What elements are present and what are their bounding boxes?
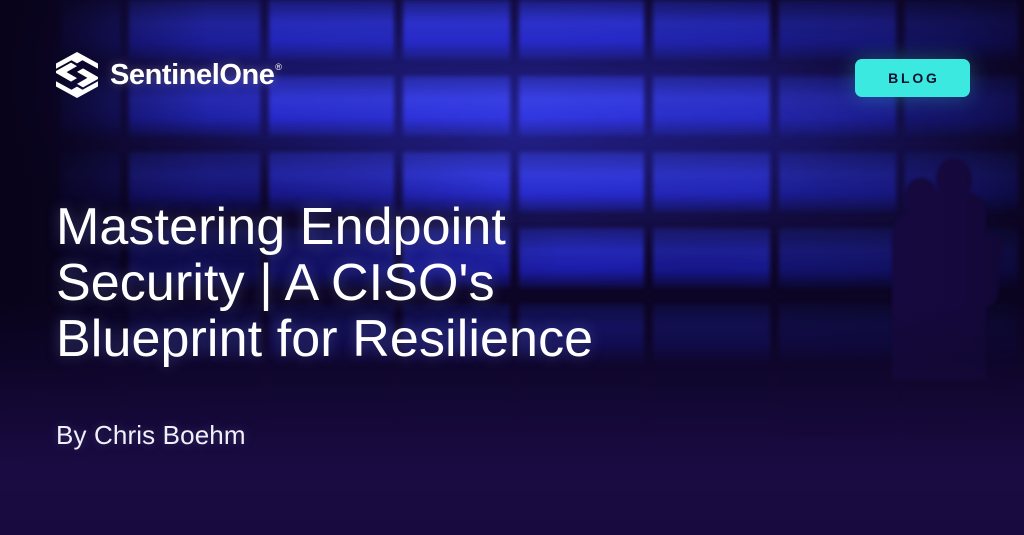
page-title: Mastering Endpoint Security | A CISO's B… <box>56 199 696 367</box>
sentinelone-wordmark: SentinelOne® <box>110 61 274 90</box>
page-title-line-2: Security | A CISO's <box>56 255 696 311</box>
page-title-line-3: Blueprint for Resilience <box>56 311 696 367</box>
hero-content: SentinelOne® BLOG Mastering Endpoint Sec… <box>0 0 1024 535</box>
author-byline: By Chris Boehm <box>56 420 246 451</box>
registered-trademark-symbol: ® <box>275 63 281 72</box>
blog-hero-banner: SentinelOne® BLOG Mastering Endpoint Sec… <box>0 0 1024 535</box>
page-title-line-1: Mastering Endpoint <box>56 199 696 255</box>
sentinelone-logo[interactable]: SentinelOne® <box>56 52 274 98</box>
sentinelone-hexagon-s-logo-icon <box>56 52 98 98</box>
blog-badge[interactable]: BLOG <box>855 59 970 97</box>
brand-name-text: SentinelOne <box>110 59 274 91</box>
